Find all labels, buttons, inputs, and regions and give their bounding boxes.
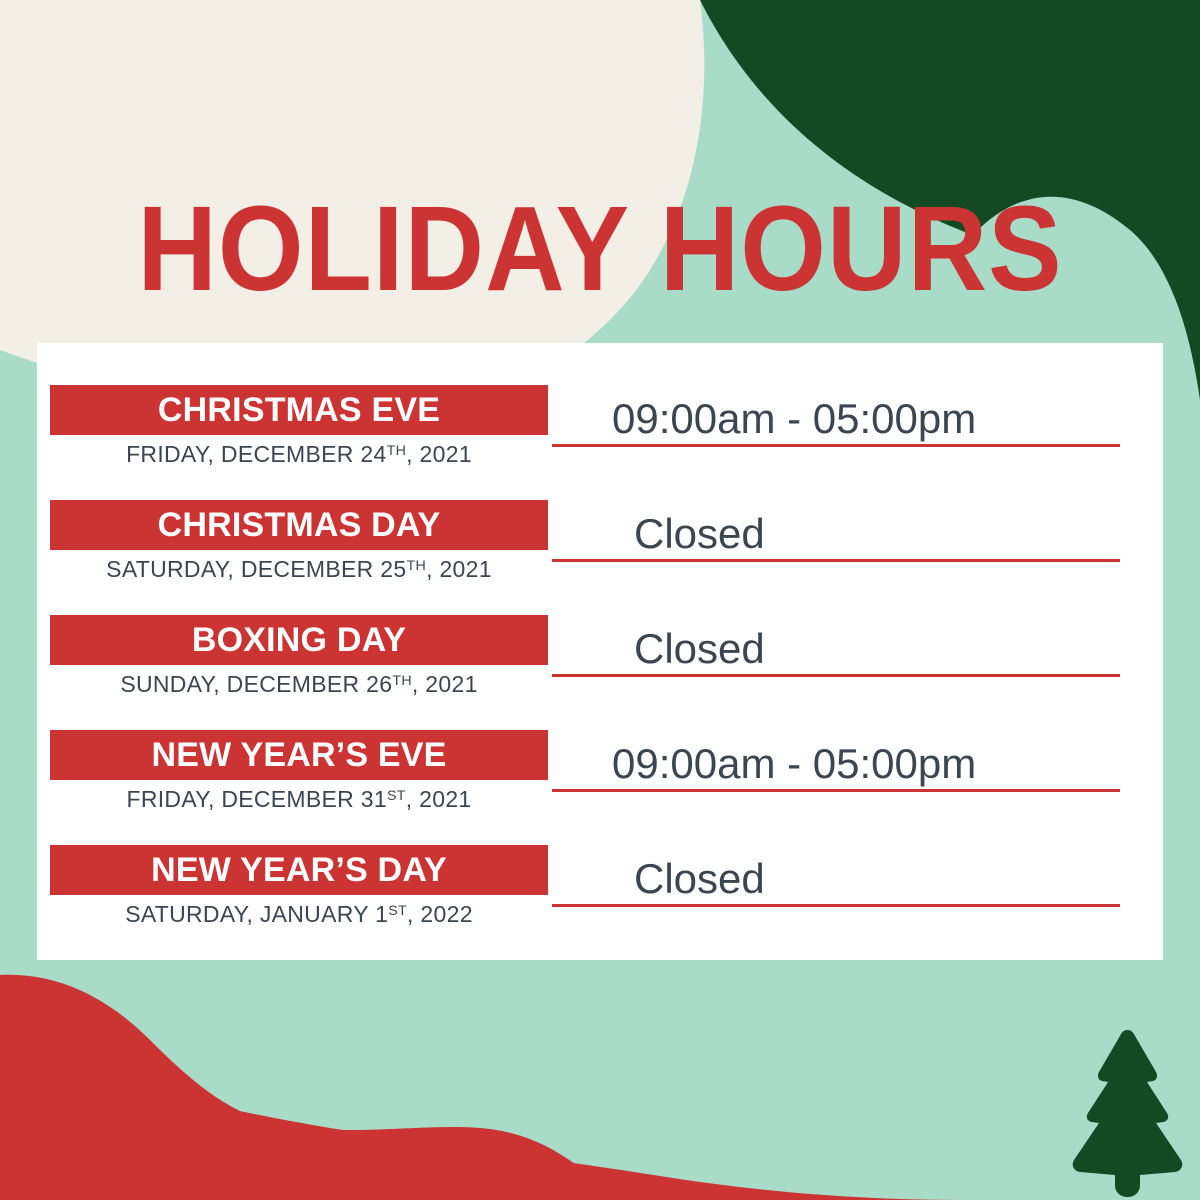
- holiday-date-ordinal: TH: [392, 673, 412, 689]
- holiday-date-prefix: SATURDAY, JANUARY 1: [125, 901, 388, 927]
- holiday-date-ordinal: TH: [406, 558, 426, 574]
- hours-value: Closed: [634, 856, 765, 902]
- page-title: HOLIDAY HOURS: [0, 186, 1200, 311]
- hours-underline: 09:00am - 05:00pm: [552, 730, 1120, 792]
- hours-value: 09:00am - 05:00pm: [612, 396, 976, 442]
- holiday-date-year: , 2022: [407, 901, 473, 927]
- holiday-date: FRIDAY, DECEMBER 31ST, 2021: [50, 786, 548, 813]
- holiday-date-year: , 2021: [426, 556, 492, 582]
- holiday-date-ordinal: ST: [388, 903, 407, 919]
- table-row: BOXING DAY SUNDAY, DECEMBER 26TH, 2021 C…: [37, 615, 1163, 730]
- holiday-date-year: , 2021: [412, 671, 478, 697]
- hours-underline: Closed: [552, 615, 1120, 677]
- holiday-date-prefix: SATURDAY, DECEMBER 25: [106, 556, 406, 582]
- holiday-date: SATURDAY, DECEMBER 25TH, 2021: [50, 556, 548, 583]
- table-row: NEW YEAR’S DAY SATURDAY, JANUARY 1ST, 20…: [37, 845, 1163, 960]
- holiday-label-group: CHRISTMAS EVE FRIDAY, DECEMBER 24TH, 202…: [50, 385, 548, 468]
- holiday-date-ordinal: ST: [387, 788, 406, 804]
- table-row: NEW YEAR’S EVE FRIDAY, DECEMBER 31ST, 20…: [37, 730, 1163, 845]
- holiday-hours-poster: HOLIDAY HOURS CHRISTMAS EVE FRIDAY, DECE…: [0, 0, 1200, 1200]
- hours-value: 09:00am - 05:00pm: [612, 741, 976, 787]
- holiday-label-group: CHRISTMAS DAY SATURDAY, DECEMBER 25TH, 2…: [50, 500, 548, 583]
- holiday-label-group: BOXING DAY SUNDAY, DECEMBER 26TH, 2021: [50, 615, 548, 698]
- table-row: CHRISTMAS EVE FRIDAY, DECEMBER 24TH, 202…: [37, 385, 1163, 500]
- holiday-name-banner: CHRISTMAS DAY: [50, 500, 548, 550]
- holiday-date-year: , 2021: [406, 441, 472, 467]
- holiday-date-prefix: FRIDAY, DECEMBER 24: [126, 441, 386, 467]
- schedule-card: CHRISTMAS EVE FRIDAY, DECEMBER 24TH, 202…: [37, 343, 1163, 960]
- holiday-date-prefix: FRIDAY, DECEMBER 31: [126, 786, 386, 812]
- holiday-label-group: NEW YEAR’S DAY SATURDAY, JANUARY 1ST, 20…: [50, 845, 548, 928]
- hours-value: Closed: [634, 511, 765, 557]
- holiday-label-group: NEW YEAR’S EVE FRIDAY, DECEMBER 31ST, 20…: [50, 730, 548, 813]
- holiday-date-ordinal: TH: [387, 443, 407, 459]
- holiday-date: FRIDAY, DECEMBER 24TH, 2021: [50, 441, 548, 468]
- holiday-date: SUNDAY, DECEMBER 26TH, 2021: [50, 671, 548, 698]
- holiday-name-banner: NEW YEAR’S DAY: [50, 845, 548, 895]
- hours-value: Closed: [634, 626, 765, 672]
- holiday-name-banner: CHRISTMAS EVE: [50, 385, 548, 435]
- holiday-date-year: , 2021: [406, 786, 472, 812]
- hours-underline: Closed: [552, 500, 1120, 562]
- holiday-name-banner: NEW YEAR’S EVE: [50, 730, 548, 780]
- table-row: CHRISTMAS DAY SATURDAY, DECEMBER 25TH, 2…: [37, 500, 1163, 615]
- hours-underline: Closed: [552, 845, 1120, 907]
- holiday-date: SATURDAY, JANUARY 1ST, 2022: [50, 901, 548, 928]
- christmas-tree-icon: [1055, 1020, 1200, 1200]
- holiday-name-banner: BOXING DAY: [50, 615, 548, 665]
- holiday-date-prefix: SUNDAY, DECEMBER 26: [120, 671, 392, 697]
- hours-underline: 09:00am - 05:00pm: [552, 385, 1120, 447]
